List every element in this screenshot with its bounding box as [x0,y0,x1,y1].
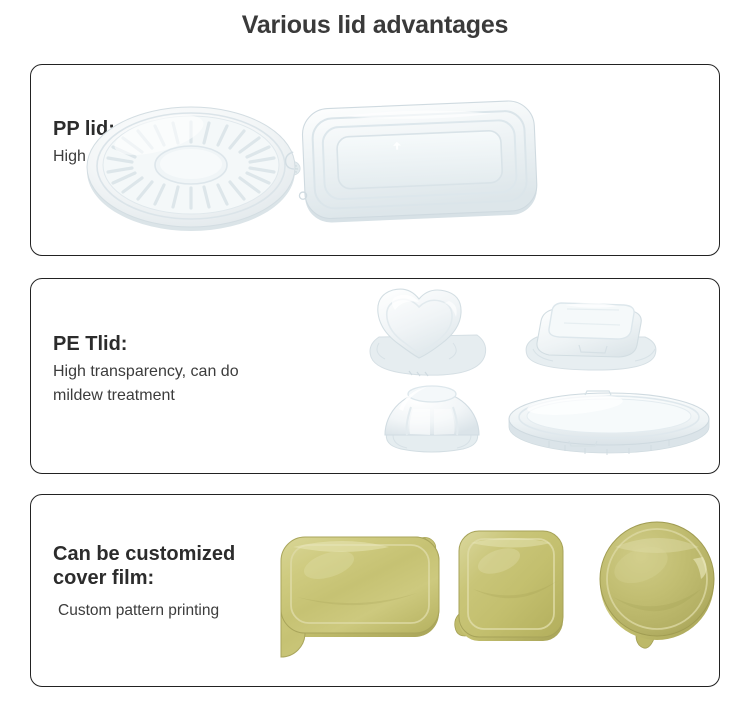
oval-pe-flat-lid-shape [509,391,709,455]
card-cover-film: Can be customized cover film: Custom pat… [30,494,720,687]
card-pp-lid: PP lid: High temperature resistance [30,64,720,256]
page-title: Various lid advantages [0,11,750,40]
round-pe-dome-lid-shape [385,386,479,452]
gold-round-cover-film-shape [600,522,714,648]
square-pe-dome-lid-shape [526,303,656,370]
pp-lid-heading: PP lid: [53,118,254,142]
card-pe-lid: PE Tlid: High transparency, can do milde… [30,278,720,474]
rectangular-pp-lid-shape [283,100,538,224]
cover-film-heading: Can be customized cover film: [53,543,235,590]
pe-lid-subtitle: High transparency, can do mildew treatme… [53,360,239,410]
heart-shaped-pe-dome-lid-shape [370,289,486,376]
gold-square-cover-film-shape [455,531,563,641]
cover-film-subtitle: Custom pattern printing [58,599,235,623]
pp-lid-text-block: PP lid: High temperature resistance [53,118,254,169]
gold-rectangular-cover-film-shape [281,537,439,657]
pp-lid-subtitle: High temperature resistance [53,145,254,170]
pe-lid-text-block: PE Tlid: High transparency, can do milde… [53,333,239,409]
cover-film-text-block: Can be customized cover film: Custom pat… [53,543,235,623]
pe-lid-heading: PE Tlid: [53,333,239,357]
